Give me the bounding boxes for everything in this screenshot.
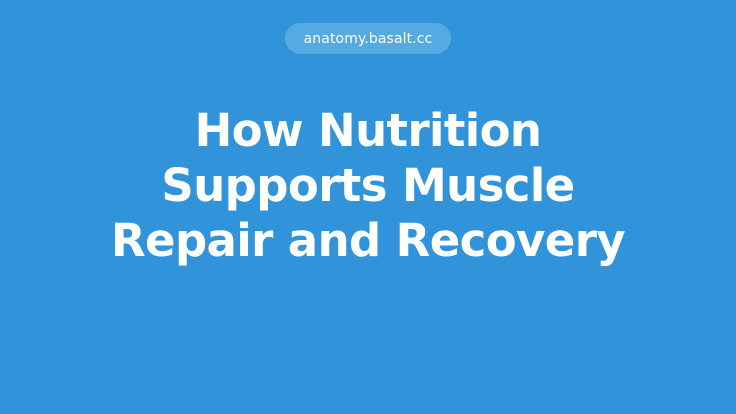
title-line-2: Supports Muscle: [161, 158, 574, 213]
page-title: How Nutrition Supports Muscle Repair and…: [0, 103, 736, 268]
title-card: anatomy.basalt.cc How Nutrition Supports…: [0, 0, 736, 414]
title-line-3: Repair and Recovery: [111, 213, 625, 268]
title-line-1: How Nutrition: [195, 103, 542, 158]
site-domain-badge[interactable]: anatomy.basalt.cc: [285, 23, 452, 54]
badge-row: anatomy.basalt.cc: [0, 23, 736, 54]
